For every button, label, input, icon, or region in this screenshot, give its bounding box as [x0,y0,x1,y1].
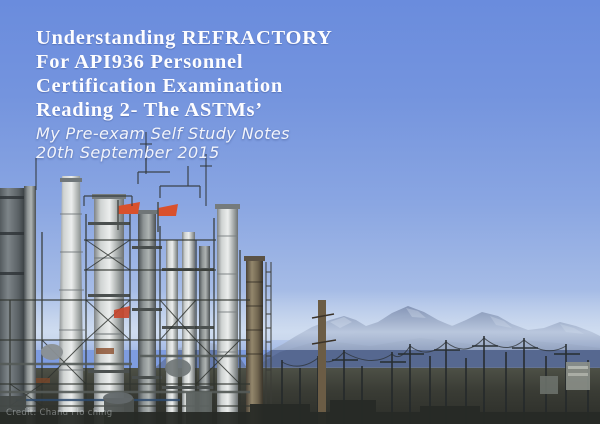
subtitle-line-1: My Pre-exam Self Study Notes [36,124,456,143]
title-line-1: Understanding REFRACTORY [36,26,456,50]
subtitle-line-2: 20th September 2015 [36,143,456,162]
title-block: Understanding REFRACTORY For API936 Pers… [36,26,456,162]
title-line-4: Reading 2- The ASTMs’ [36,98,456,122]
subtitle-block: My Pre-exam Self Study Notes 20th Septem… [36,124,456,162]
title-line-3: Certification Examination [36,74,456,98]
title-line-2: For API936 Personnel [36,50,456,74]
image-credit-watermark: Credit: Chand Flo ching [6,408,112,418]
title-slide: Understanding REFRACTORY For API936 Pers… [0,0,600,424]
